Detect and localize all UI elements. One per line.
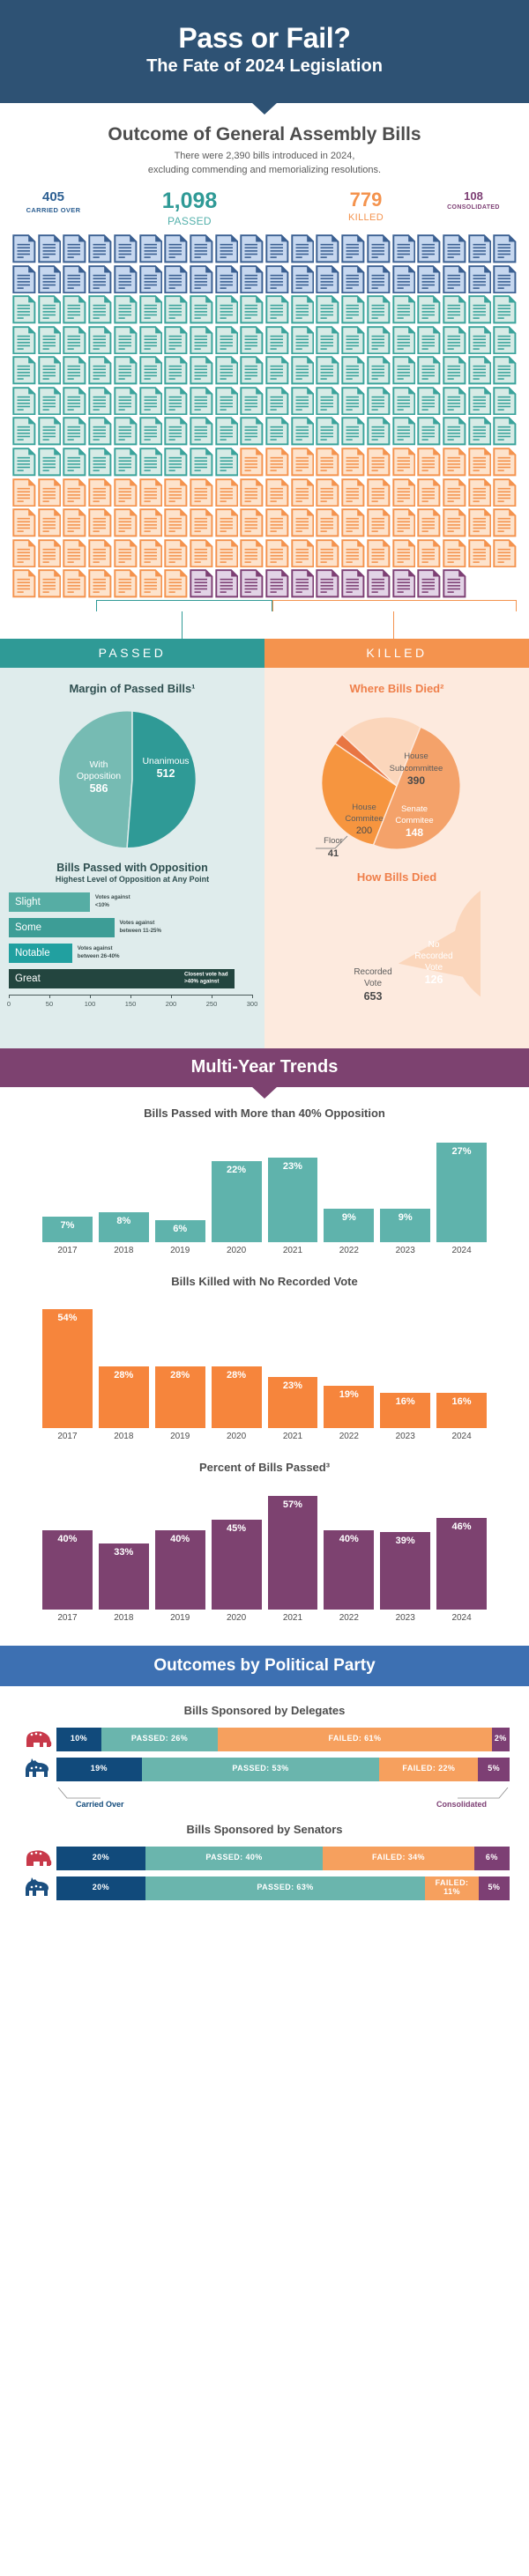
bill-icon-passed bbox=[12, 448, 36, 477]
bill-icon-carried-over bbox=[291, 265, 315, 294]
bill-icon-killed bbox=[291, 478, 315, 507]
delegates-section: Bills Sponsored by Delegates 10% PASSED:… bbox=[0, 1686, 529, 1814]
bill-icon-carried-over bbox=[190, 265, 213, 294]
bar-column: 9% bbox=[324, 1132, 374, 1242]
callout-consolidated: Consolidated bbox=[436, 1800, 487, 1809]
bill-icon-killed bbox=[341, 478, 365, 507]
bill-icon-passed bbox=[493, 387, 517, 416]
bill-icon-killed bbox=[392, 508, 416, 537]
bar-column: 22% bbox=[212, 1132, 262, 1242]
svg-text:Vote: Vote bbox=[425, 963, 443, 973]
bill-icon-killed bbox=[88, 478, 112, 507]
page-header: Pass or Fail? The Fate of 2024 Legislati… bbox=[0, 0, 529, 103]
bill-icon-passed bbox=[38, 295, 62, 324]
svg-text:House: House bbox=[404, 751, 428, 761]
senators-title: Bills Sponsored by Senators bbox=[0, 1823, 529, 1836]
bill-icon-killed bbox=[139, 478, 163, 507]
bill-icon-passed bbox=[190, 448, 213, 477]
bill-icon-passed bbox=[392, 417, 416, 446]
x-axis-tick-label: 2021 bbox=[268, 1246, 318, 1255]
bill-icon-passed bbox=[215, 448, 239, 477]
bill-icon-passed bbox=[493, 295, 517, 324]
bill-icon-passed bbox=[240, 295, 264, 324]
svg-text:Commitee: Commitee bbox=[345, 814, 383, 824]
bill-icon-carried-over bbox=[468, 265, 492, 294]
bill-icon-passed bbox=[164, 326, 188, 355]
bill-icon-passed bbox=[38, 417, 62, 446]
x-axis-labels: 20172018201920202021202220232024 bbox=[0, 1610, 529, 1623]
bill-icon-carried-over bbox=[367, 234, 391, 263]
infographic-page: Pass or Fail? The Fate of 2024 Legislati… bbox=[0, 0, 529, 1926]
bill-icon-killed bbox=[12, 508, 36, 537]
bill-icon-passed bbox=[468, 295, 492, 324]
bill-icon-passed bbox=[468, 356, 492, 385]
delegates-title: Bills Sponsored by Delegates bbox=[0, 1704, 529, 1717]
bill-icon-killed bbox=[392, 448, 416, 477]
bill-icon-killed bbox=[63, 569, 86, 598]
bar-value-label: 28% bbox=[212, 1366, 262, 1428]
outcome-subtitle: There were 2,390 bills introduced in 202… bbox=[0, 150, 529, 178]
bill-icon-passed bbox=[139, 387, 163, 416]
bill-icon-killed bbox=[468, 448, 492, 477]
segment-passed: PASSED: 63% bbox=[145, 1876, 425, 1900]
bill-icon-carried-over bbox=[316, 234, 339, 263]
margin-pie-chart: With Opposition 586 Unanimous 512 bbox=[0, 702, 264, 856]
bar-column: 16% bbox=[380, 1300, 430, 1428]
bill-icon-passed bbox=[164, 387, 188, 416]
x-axis-tick-label: 2021 bbox=[268, 1613, 318, 1623]
segment-failed: FAILED: 22% bbox=[379, 1758, 478, 1781]
chart-title: Percent of Bills Passed³ bbox=[0, 1461, 529, 1474]
bill-icon-passed bbox=[240, 326, 264, 355]
delegate-republican-bar: 10% PASSED: 26% FAILED: 61% 2% bbox=[56, 1728, 510, 1751]
bar-column: 40% bbox=[155, 1486, 205, 1610]
segment-consolidated: 5% bbox=[478, 1758, 510, 1781]
segment-passed: PASSED: 40% bbox=[145, 1847, 324, 1870]
segment-failed: FAILED:11% bbox=[425, 1876, 478, 1900]
bill-icon-consolidated bbox=[291, 569, 315, 598]
segment-carried-over: 10% bbox=[56, 1728, 101, 1751]
bar-value-label: 23% bbox=[268, 1158, 318, 1242]
x-axis-labels: 20172018201920202021202220232024 bbox=[0, 1428, 529, 1441]
bill-icon-passed bbox=[215, 417, 239, 446]
bill-icon-consolidated bbox=[190, 569, 213, 598]
banner-passed: PASSED bbox=[0, 639, 264, 668]
bill-icon-killed bbox=[164, 508, 188, 537]
page-title: Pass or Fail? bbox=[18, 23, 511, 54]
bill-icon-passed bbox=[493, 326, 517, 355]
outcome-section: Outcome of General Assembly Bills There … bbox=[0, 103, 529, 639]
bill-icon-killed bbox=[265, 539, 289, 568]
bill-icon-carried-over bbox=[12, 265, 36, 294]
bill-icon-passed bbox=[443, 417, 466, 446]
bill-icon-killed bbox=[164, 478, 188, 507]
bar-column: 54% bbox=[42, 1300, 93, 1428]
bill-icon-killed bbox=[341, 539, 365, 568]
bill-icon-killed bbox=[291, 539, 315, 568]
bill-icon-consolidated bbox=[215, 569, 239, 598]
stat-killed: 779 KILLED bbox=[326, 190, 406, 223]
x-axis-tick-label: 2021 bbox=[268, 1432, 318, 1441]
bar-column: 27% bbox=[436, 1132, 487, 1242]
bill-icon-passed bbox=[12, 326, 36, 355]
bill-icon-carried-over bbox=[392, 265, 416, 294]
bill-icon-consolidated bbox=[417, 569, 441, 598]
bill-icon-passed bbox=[265, 417, 289, 446]
bill-icon-killed bbox=[443, 478, 466, 507]
bill-icon-passed bbox=[88, 326, 112, 355]
bar-value-label: 16% bbox=[436, 1393, 487, 1428]
opposition-bar-row: Some Votes againstbetween 11-25% bbox=[9, 918, 252, 937]
segment-passed: PASSED: 26% bbox=[101, 1728, 218, 1751]
bill-icon-killed bbox=[316, 448, 339, 477]
bill-icon-killed bbox=[392, 478, 416, 507]
svg-text:With: With bbox=[90, 759, 108, 770]
detail-panels: Margin of Passed Bills¹ With Opposition … bbox=[0, 668, 529, 1048]
bill-icon-passed bbox=[38, 326, 62, 355]
bill-icon-killed bbox=[88, 569, 112, 598]
bill-icon-passed bbox=[240, 417, 264, 446]
bill-icon-killed bbox=[38, 569, 62, 598]
axis-tick-label: 250 bbox=[206, 1000, 218, 1008]
x-axis-tick-label: 2024 bbox=[436, 1246, 487, 1255]
opposition-bar-row: Slight Votes against<10% bbox=[9, 892, 252, 912]
bill-icon-carried-over bbox=[291, 234, 315, 263]
bill-icon-carried-over bbox=[164, 265, 188, 294]
bill-icon-killed bbox=[240, 478, 264, 507]
bill-icon-passed bbox=[443, 356, 466, 385]
svg-text:586: 586 bbox=[90, 782, 108, 795]
bill-icon-killed bbox=[417, 508, 441, 537]
svg-text:Opposition: Opposition bbox=[77, 771, 121, 781]
bill-icon-passed bbox=[164, 295, 188, 324]
bill-icon-passed bbox=[291, 417, 315, 446]
svg-text:512: 512 bbox=[157, 767, 175, 780]
bill-icon-carried-over bbox=[443, 234, 466, 263]
bill-icon-carried-over bbox=[493, 234, 517, 263]
bill-icon-passed bbox=[291, 326, 315, 355]
bar-value-label: 9% bbox=[324, 1209, 374, 1242]
bill-icon-killed bbox=[88, 539, 112, 568]
bill-icon-passed bbox=[12, 387, 36, 416]
x-axis-tick-label: 2022 bbox=[324, 1246, 374, 1255]
svg-text:Unanimous: Unanimous bbox=[142, 756, 189, 766]
bill-icon-killed bbox=[190, 508, 213, 537]
bar-value-label: 45% bbox=[212, 1520, 262, 1610]
bar-value-label: 28% bbox=[155, 1366, 205, 1428]
bill-icon-passed bbox=[12, 417, 36, 446]
bill-icon-carried-over bbox=[38, 234, 62, 263]
bill-icon-passed bbox=[38, 448, 62, 477]
killed-panel: Where Bills Died² House Subcommittee 390… bbox=[264, 668, 529, 1048]
bill-icon-killed bbox=[63, 508, 86, 537]
bill-icon-carried-over bbox=[114, 265, 138, 294]
bar-column: 23% bbox=[268, 1132, 318, 1242]
x-axis-tick-label: 2023 bbox=[380, 1613, 430, 1623]
bill-icon-passed bbox=[392, 326, 416, 355]
bill-icon-killed bbox=[443, 448, 466, 477]
bill-icon-passed bbox=[367, 295, 391, 324]
bill-icon-carried-over bbox=[367, 265, 391, 294]
bar-value-label: 54% bbox=[42, 1309, 93, 1428]
bill-icon-passed bbox=[139, 417, 163, 446]
passed-bracket-stem bbox=[182, 611, 183, 639]
delegate-democrat-bar: 19% PASSED: 53% FAILED: 22% 5% bbox=[56, 1758, 510, 1781]
bar-columns: 7%8%6%22%23%9%9%27% bbox=[0, 1132, 529, 1242]
bar-column: 9% bbox=[380, 1132, 430, 1242]
svg-text:Floor: Floor bbox=[324, 836, 343, 846]
callout-carried-over: Carried Over bbox=[76, 1800, 124, 1809]
bill-icon-passed bbox=[88, 417, 112, 446]
bill-icon-killed bbox=[114, 508, 138, 537]
segment-failed: FAILED: 61% bbox=[218, 1728, 491, 1751]
bill-icon-carried-over bbox=[240, 265, 264, 294]
segment-consolidated: 2% bbox=[492, 1728, 510, 1751]
bar-slight: Slight bbox=[9, 892, 90, 912]
svg-text:653: 653 bbox=[364, 990, 383, 1003]
bill-icon-killed bbox=[12, 478, 36, 507]
bar-value-label: 16% bbox=[380, 1393, 430, 1428]
bill-icon-passed bbox=[63, 326, 86, 355]
svg-text:126: 126 bbox=[425, 973, 443, 986]
bill-icon-carried-over bbox=[215, 265, 239, 294]
bill-icon-carried-over bbox=[164, 234, 188, 263]
bill-icon-passed bbox=[316, 326, 339, 355]
bill-icon-carried-over bbox=[443, 265, 466, 294]
bill-icon-carried-over bbox=[114, 234, 138, 263]
where-died-title: Where Bills Died² bbox=[264, 668, 529, 695]
bill-icon-carried-over bbox=[341, 265, 365, 294]
bill-icon-killed bbox=[265, 478, 289, 507]
bill-icon-passed bbox=[493, 356, 517, 385]
bill-icon-passed bbox=[88, 387, 112, 416]
bill-icon-passed bbox=[367, 326, 391, 355]
bill-icon-passed bbox=[63, 295, 86, 324]
republican-elephant-icon bbox=[19, 1728, 56, 1751]
how-died-svg: No Recorded Vote 126 Recorded Vote 653 bbox=[313, 891, 481, 1036]
bill-icon-passed bbox=[190, 417, 213, 446]
bill-icon-passed bbox=[341, 326, 365, 355]
bill-icon-carried-over bbox=[12, 234, 36, 263]
note-slight: Votes against<10% bbox=[95, 894, 130, 909]
bar-column: 19% bbox=[324, 1300, 374, 1428]
bill-icon-passed bbox=[164, 356, 188, 385]
bar-column: 46% bbox=[436, 1486, 487, 1610]
bar-value-label: 23% bbox=[268, 1377, 318, 1428]
axis-tick-label: 200 bbox=[166, 1000, 177, 1008]
chart-title: Bills Passed with More than 40% Oppositi… bbox=[0, 1107, 529, 1120]
stats-row: 405 CARRIED OVER 1,098 PASSED 779 KILLED… bbox=[0, 190, 529, 231]
segment-carried-over: 20% bbox=[56, 1876, 145, 1900]
bill-icon-passed bbox=[215, 387, 239, 416]
bill-icon-carried-over bbox=[316, 265, 339, 294]
bill-icon-killed bbox=[493, 478, 517, 507]
bill-icon-carried-over bbox=[341, 234, 365, 263]
bar-column: 40% bbox=[324, 1486, 374, 1610]
bill-icon-passed bbox=[114, 417, 138, 446]
chart-killed-no-vote: Bills Killed with No Recorded Vote 54%28… bbox=[0, 1255, 529, 1441]
how-died-title: How Bills Died bbox=[264, 865, 529, 884]
bill-icon-carried-over bbox=[417, 234, 441, 263]
bar-great: Great Closest vote had>40% against bbox=[9, 969, 235, 988]
bill-icon-killed bbox=[468, 508, 492, 537]
bill-icon-passed bbox=[63, 417, 86, 446]
opposition-bar-row: Notable Votes againstbetween 26-40% bbox=[9, 944, 252, 963]
bar-column: 39% bbox=[380, 1486, 430, 1610]
bill-icon-passed bbox=[240, 356, 264, 385]
x-axis-tick-label: 2019 bbox=[155, 1613, 205, 1623]
democrat-donkey-icon bbox=[19, 1876, 56, 1899]
bill-icon-passed bbox=[12, 356, 36, 385]
bar-some: Some bbox=[9, 918, 115, 937]
opposition-bar-titles: Bills Passed with Opposition Highest Lev… bbox=[0, 862, 264, 884]
bill-icon-killed bbox=[367, 478, 391, 507]
chart-percent-passed: Percent of Bills Passed³ 40%33%40%45%57%… bbox=[0, 1441, 529, 1623]
bar-column: 57% bbox=[268, 1486, 318, 1610]
bar-value-label: 27% bbox=[436, 1143, 487, 1242]
bar-column: 28% bbox=[155, 1300, 205, 1428]
bill-icon-passed bbox=[164, 448, 188, 477]
axis-tick-label: 300 bbox=[247, 1000, 258, 1008]
bill-icon-consolidated bbox=[316, 569, 339, 598]
bill-icon-carried-over bbox=[190, 234, 213, 263]
bill-icon-killed bbox=[417, 448, 441, 477]
bill-icon-killed bbox=[139, 508, 163, 537]
delegate-democrat-row: 19% PASSED: 53% FAILED: 22% 5% bbox=[0, 1758, 529, 1781]
bar-column: 16% bbox=[436, 1300, 487, 1428]
bill-icon-carried-over bbox=[417, 265, 441, 294]
outcome-title: Outcome of General Assembly Bills bbox=[0, 124, 529, 145]
note-notable: Votes againstbetween 26-40% bbox=[78, 945, 120, 960]
bill-icon-passed bbox=[190, 387, 213, 416]
bill-icon-passed bbox=[139, 326, 163, 355]
bill-icon-passed bbox=[392, 387, 416, 416]
bill-icon-carried-over bbox=[265, 234, 289, 263]
bill-icon-killed bbox=[190, 539, 213, 568]
bar-column: 28% bbox=[212, 1300, 262, 1428]
bill-icon-killed bbox=[316, 478, 339, 507]
multi-year-notch bbox=[251, 1086, 278, 1099]
bar-value-label: 9% bbox=[380, 1209, 430, 1242]
margin-pie-svg: With Opposition 586 Unanimous 512 bbox=[48, 702, 216, 856]
senators-section: Bills Sponsored by Senators 20% PASSED: … bbox=[0, 1814, 529, 1900]
bill-icon-killed bbox=[367, 448, 391, 477]
bill-icon-passed bbox=[417, 326, 441, 355]
bill-icon-killed bbox=[63, 539, 86, 568]
bill-icon-passed bbox=[114, 326, 138, 355]
killed-bracket-stem bbox=[393, 611, 394, 639]
bar-column: 7% bbox=[42, 1132, 93, 1242]
axis-tick-label: 100 bbox=[85, 1000, 96, 1008]
bill-icon-passed bbox=[265, 387, 289, 416]
bill-icon-passed bbox=[367, 387, 391, 416]
bill-icon-killed bbox=[443, 508, 466, 537]
bill-icon-passed bbox=[367, 356, 391, 385]
bill-icon-passed bbox=[341, 356, 365, 385]
bill-icon-passed bbox=[215, 326, 239, 355]
bill-icon-killed bbox=[38, 478, 62, 507]
bill-icon-killed bbox=[316, 508, 339, 537]
x-axis-tick-label: 2024 bbox=[436, 1432, 487, 1441]
bottom-spacer bbox=[0, 1906, 529, 1926]
stat-consolidated: 108 CONSOLIDATED bbox=[421, 190, 525, 211]
bill-icon-carried-over bbox=[38, 265, 62, 294]
bar-value-label: 22% bbox=[212, 1161, 262, 1242]
bill-icon-passed bbox=[468, 326, 492, 355]
svg-text:Commitee: Commitee bbox=[395, 816, 433, 825]
bar-column: 6% bbox=[155, 1132, 205, 1242]
svg-text:No: No bbox=[428, 940, 440, 950]
bill-icon-passed bbox=[114, 356, 138, 385]
bill-icon-killed bbox=[493, 448, 517, 477]
bill-icon-killed bbox=[493, 508, 517, 537]
senator-republican-bar: 20% PASSED: 40% FAILED: 34% 6% bbox=[56, 1847, 510, 1870]
bill-icon-killed bbox=[468, 539, 492, 568]
bar-value-label: 40% bbox=[324, 1530, 374, 1610]
bill-icon-passed bbox=[341, 387, 365, 416]
bill-icon-killed bbox=[88, 508, 112, 537]
bill-icon-passed bbox=[265, 326, 289, 355]
x-axis-tick-label: 2018 bbox=[99, 1432, 149, 1441]
x-axis-tick-label: 2023 bbox=[380, 1432, 430, 1441]
segment-consolidated: 5% bbox=[479, 1876, 510, 1900]
bill-icon-killed bbox=[392, 539, 416, 568]
how-died-chart: No Recorded Vote 126 Recorded Vote 653 bbox=[264, 891, 529, 1036]
bill-icon-killed bbox=[12, 539, 36, 568]
bill-icon-killed bbox=[114, 478, 138, 507]
bar-value-label: 7% bbox=[42, 1217, 93, 1242]
bar-value-label: 46% bbox=[436, 1518, 487, 1610]
bill-icon-passed bbox=[417, 356, 441, 385]
outcome-brackets bbox=[12, 600, 517, 639]
bill-icon-killed bbox=[38, 508, 62, 537]
page-subtitle: The Fate of 2024 Legislation bbox=[18, 56, 511, 77]
bill-icon-carried-over bbox=[215, 234, 239, 263]
banner-killed: KILLED bbox=[264, 639, 529, 668]
svg-text:148: 148 bbox=[406, 826, 423, 839]
bar-value-label: 19% bbox=[324, 1386, 374, 1428]
x-axis-tick-label: 2020 bbox=[212, 1432, 262, 1441]
axis-tick-label: 150 bbox=[125, 1000, 137, 1008]
bar-column: 23% bbox=[268, 1300, 318, 1428]
bill-icon-killed bbox=[240, 448, 264, 477]
bill-icon-passed bbox=[443, 326, 466, 355]
bill-icon-carried-over bbox=[88, 265, 112, 294]
bill-icon-passed bbox=[215, 356, 239, 385]
pass-kill-banner: PASSED KILLED bbox=[0, 639, 529, 668]
killed-bracket bbox=[272, 600, 517, 611]
bill-icon-passed bbox=[417, 387, 441, 416]
svg-text:Senate: Senate bbox=[401, 804, 428, 814]
bill-icon-killed bbox=[468, 478, 492, 507]
bill-icon-passed bbox=[291, 295, 315, 324]
senator-republican-row: 20% PASSED: 40% FAILED: 34% 6% bbox=[0, 1847, 529, 1870]
axis-tick-label: 0 bbox=[7, 1000, 11, 1008]
chart-opposition-40: Bills Passed with More than 40% Oppositi… bbox=[0, 1087, 529, 1255]
bill-icon-killed bbox=[139, 539, 163, 568]
x-axis-tick-label: 2020 bbox=[212, 1613, 262, 1623]
segment-carried-over: 20% bbox=[56, 1847, 145, 1870]
x-axis-tick-label: 2022 bbox=[324, 1432, 374, 1441]
bill-icon-passed bbox=[190, 295, 213, 324]
bar-value-label: 6% bbox=[155, 1220, 205, 1242]
passed-bracket bbox=[96, 600, 272, 611]
bar-value-label: 28% bbox=[99, 1366, 149, 1428]
bill-icon-passed bbox=[63, 387, 86, 416]
bill-icon-passed bbox=[468, 417, 492, 446]
stat-carried-over: 405 CARRIED OVER bbox=[16, 190, 91, 214]
svg-text:Recorded: Recorded bbox=[414, 951, 452, 961]
